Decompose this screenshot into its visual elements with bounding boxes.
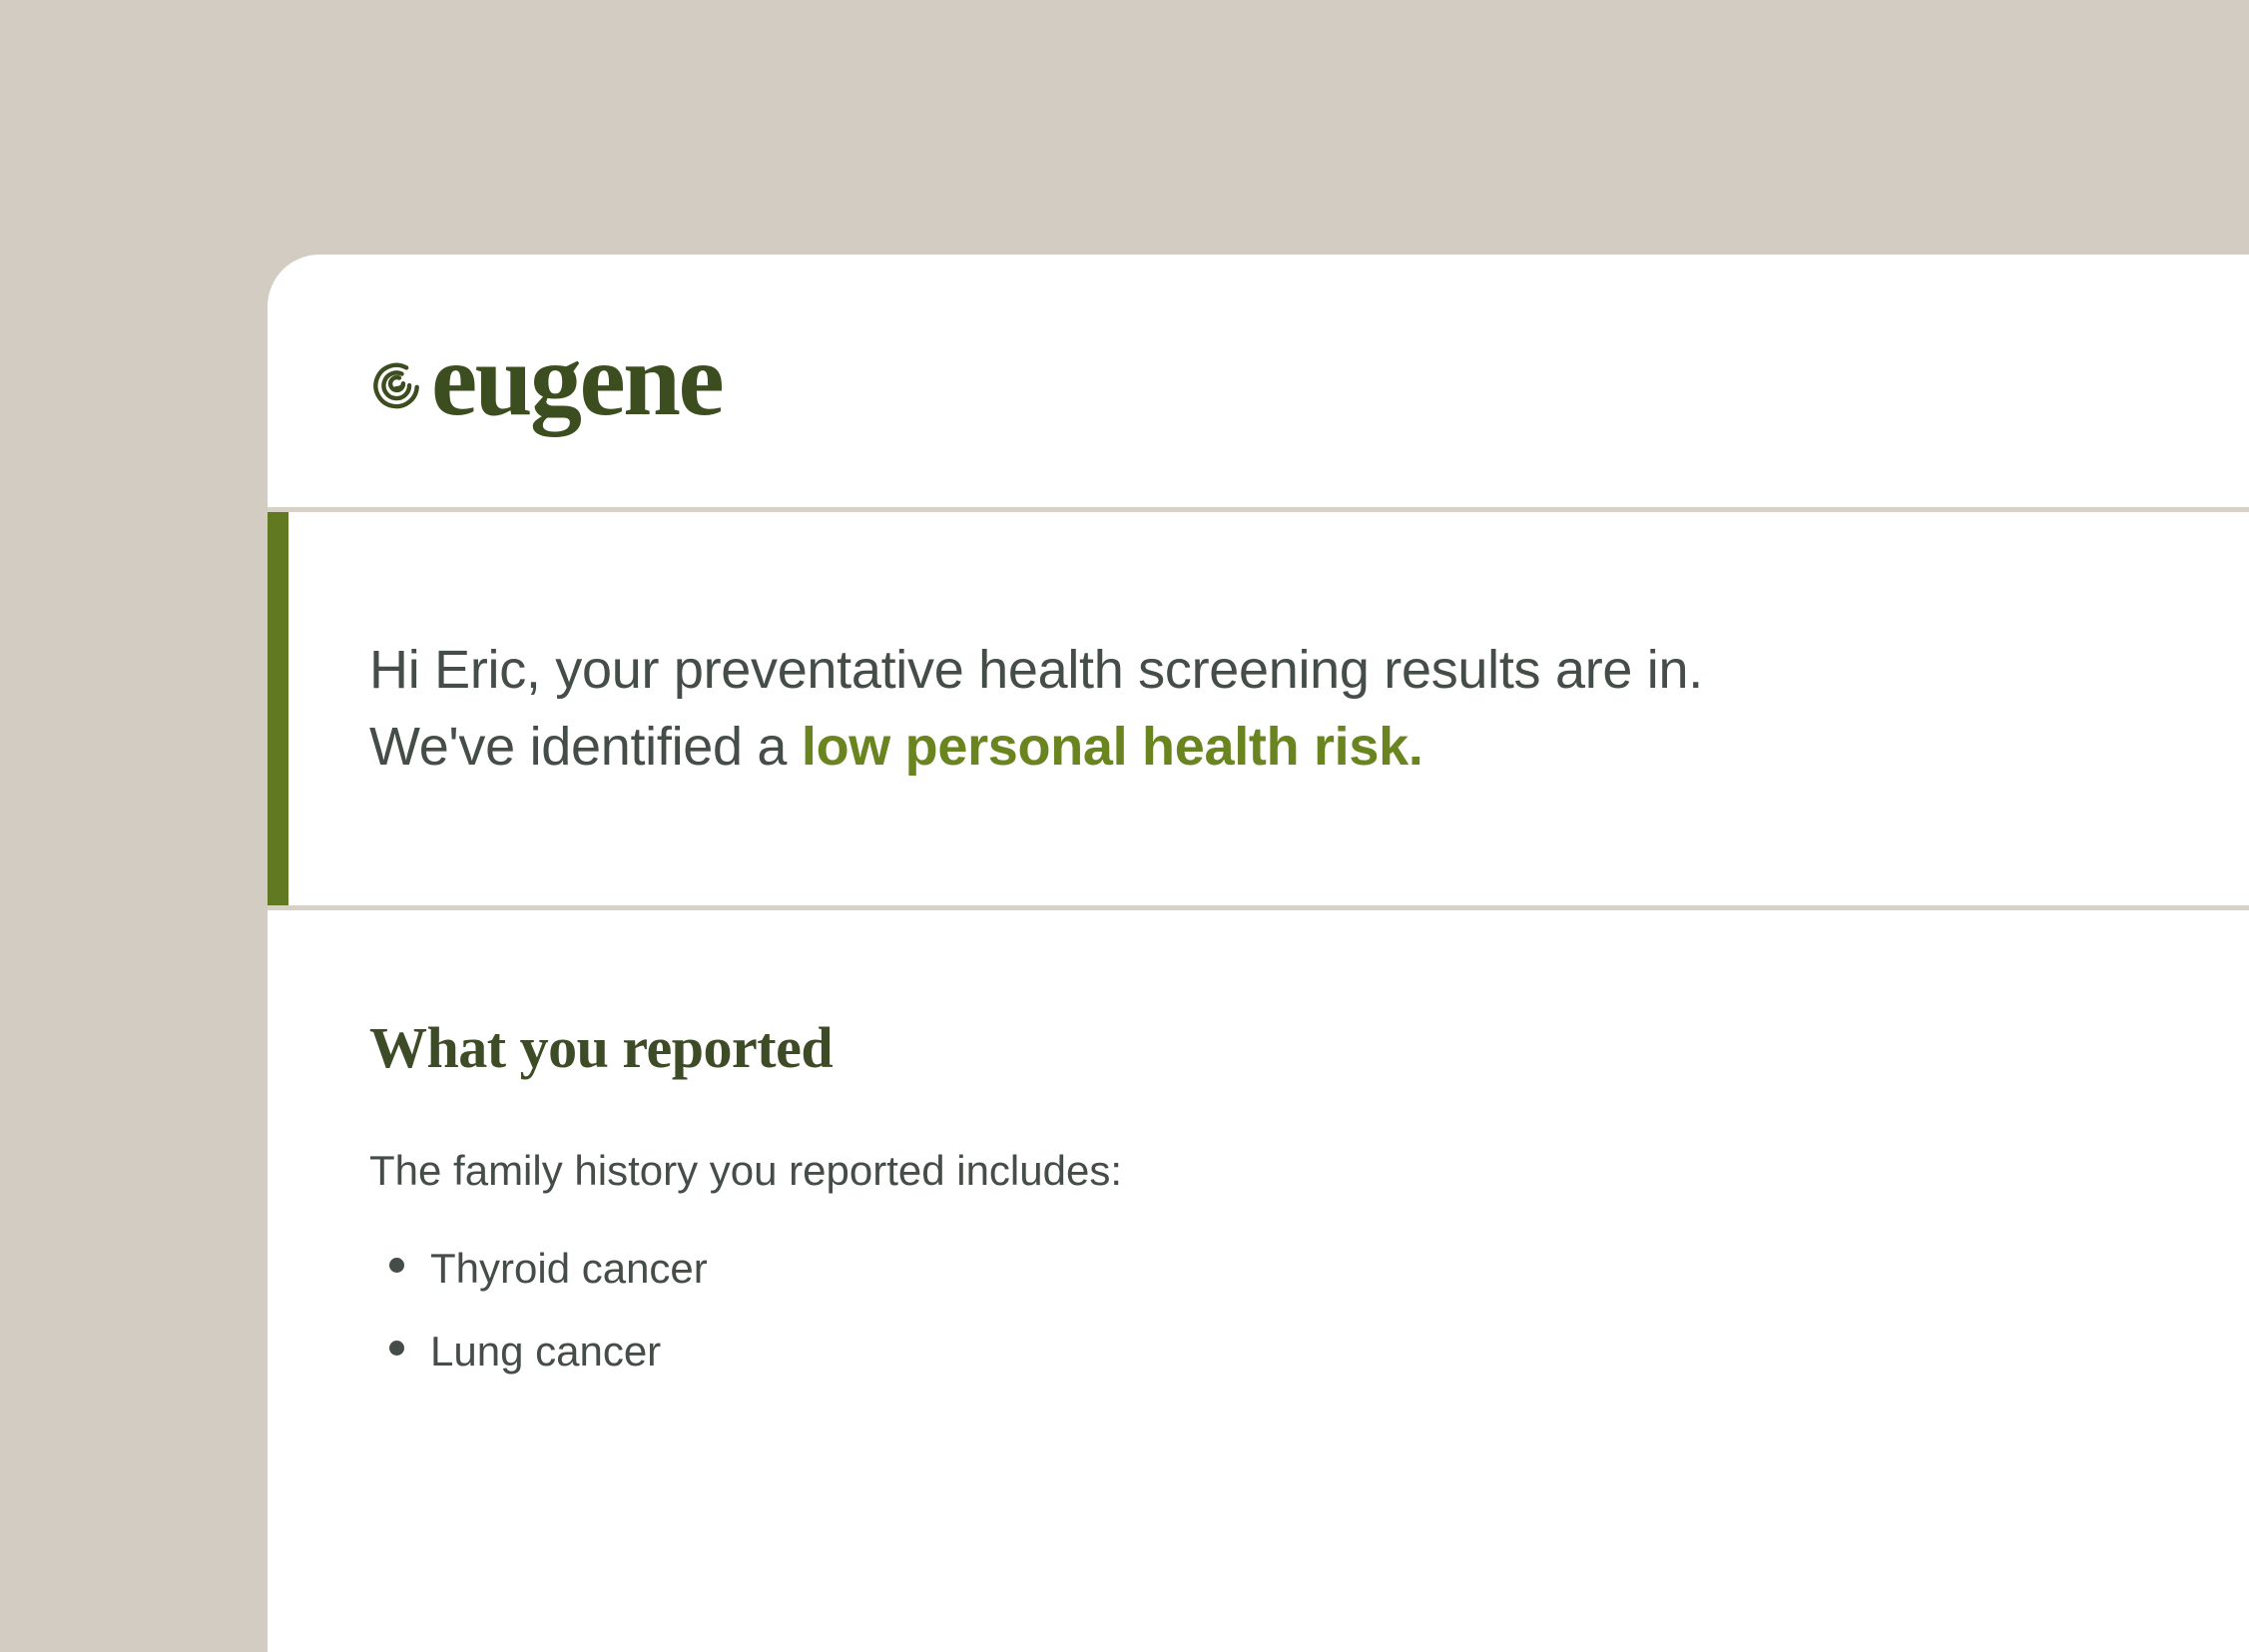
brand-header: eugene bbox=[268, 255, 2249, 507]
results-headline: Hi Eric, your preventative health screen… bbox=[369, 632, 1703, 785]
health-report-card: eugene Hi Eric, your preventative health… bbox=[268, 255, 2249, 1652]
bullet-dot-icon bbox=[389, 1341, 404, 1356]
eugene-spiral-icon bbox=[369, 356, 423, 410]
page-canvas: eugene Hi Eric, your preventative health… bbox=[0, 0, 2249, 1499]
callout-accent-bar bbox=[268, 512, 288, 905]
family-history-list: Thyroid cancer Lung cancer bbox=[369, 1228, 2249, 1392]
results-callout: Hi Eric, your preventative health screen… bbox=[268, 512, 2249, 905]
section-intro: The family history you reported includes… bbox=[369, 1144, 2249, 1199]
callout-body: Hi Eric, your preventative health screen… bbox=[288, 512, 2249, 905]
list-item: Thyroid cancer bbox=[369, 1228, 2249, 1311]
list-item: Lung cancer bbox=[369, 1311, 2249, 1393]
section-title: What you reported bbox=[369, 1016, 2249, 1080]
list-item-label: Thyroid cancer bbox=[430, 1242, 708, 1297]
bullet-dot-icon bbox=[389, 1258, 404, 1273]
headline-line-1: Hi Eric, your preventative health screen… bbox=[369, 640, 1703, 700]
eugene-logo[interactable]: eugene bbox=[369, 336, 722, 424]
what-you-reported-section: What you reported The family history you… bbox=[268, 910, 2249, 1393]
risk-level-emphasis: low personal health risk. bbox=[802, 717, 1423, 777]
list-item-label: Lung cancer bbox=[430, 1325, 661, 1379]
headline-line-2-prefix: We've identified a bbox=[369, 717, 802, 777]
eugene-wordmark: eugene bbox=[431, 336, 722, 424]
